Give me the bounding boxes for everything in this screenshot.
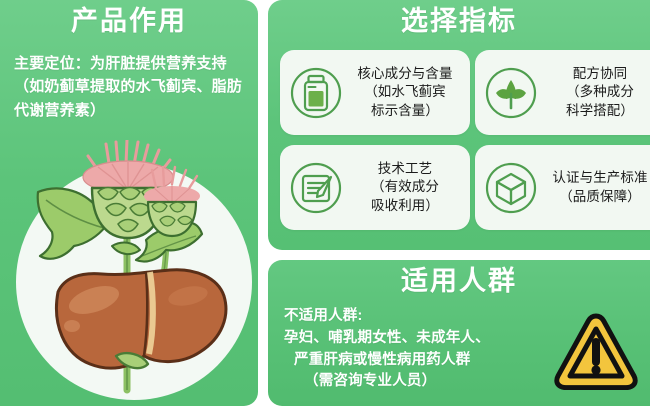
card-line: 配方协同 <box>539 65 650 84</box>
audience-line: 严重肝病或慢性病用药人群 <box>284 350 546 372</box>
card-line: 核心成分与含量 <box>344 65 466 84</box>
card-line: 认证与生产标准 <box>539 169 650 188</box>
card-line: 吸收利用） <box>344 197 466 216</box>
supplement-bottle-icon <box>288 65 344 121</box>
panel-title-target-audience: 适用人群 <box>268 268 650 295</box>
liver-milk-thistle-illustration <box>6 140 256 406</box>
criteria-card-formula-synergy[interactable]: 配方协同 （多种成分 科学搭配） <box>475 50 650 135</box>
audience-line: （需咨询专业人员） <box>284 371 546 393</box>
card-line: 科学搭配） <box>539 102 650 121</box>
panel-title-product-effect: 产品作用 <box>0 8 258 35</box>
panel-target-audience: 适用人群 不适用人群: 孕妇、哺乳期女性、未成年人、 严重肝病或慢性病用药人群 … <box>268 260 650 406</box>
clipboard-pencil-icon <box>288 160 344 216</box>
criteria-card-text-certification-standard: 认证与生产标准 （品质保障） <box>539 169 650 206</box>
card-line: 技术工艺 <box>344 160 466 179</box>
target-audience-body-text: 不适用人群: 孕妇、哺乳期女性、未成年人、 严重肝病或慢性病用药人群 （需咨询专… <box>284 306 546 393</box>
criteria-card-text-formula-synergy: 配方协同 （多种成分 科学搭配） <box>539 65 650 121</box>
panel-product-effect: 产品作用 主要定位：为肝脏提供营养支持（如奶蓟草提取的水飞蓟宾、脂肪代谢营养素） <box>0 0 258 406</box>
infographic-canvas: 产品作用 主要定位：为肝脏提供营养支持（如奶蓟草提取的水飞蓟宾、脂肪代谢营养素） <box>0 0 650 406</box>
card-line: （有效成分 <box>344 178 466 197</box>
card-line: （多种成分 <box>539 83 650 102</box>
card-line: （品质保障） <box>539 188 650 207</box>
card-line: （如水飞蓟宾 <box>344 83 466 102</box>
audience-line: 孕妇、哺乳期女性、未成年人、 <box>284 328 546 350</box>
criteria-card-text-technology-process: 技术工艺 （有效成分 吸收利用） <box>344 160 470 216</box>
leaf-plant-icon <box>483 65 539 121</box>
panel-selection-criteria: 选择指标 核心成分与含量 （如水飞蓟宾 标示含量） <box>268 0 650 250</box>
criteria-card-text-core-ingredient: 核心成分与含量 （如水飞蓟宾 标示含量） <box>344 65 470 121</box>
criteria-card-certification-standard[interactable]: 认证与生产标准 （品质保障） <box>475 145 650 230</box>
warning-triangle-icon <box>552 310 640 390</box>
product-effect-body-text: 主要定位：为肝脏提供营养支持（如奶蓟草提取的水飞蓟宾、脂肪代谢营养素） <box>14 52 250 122</box>
card-line: 标示含量） <box>344 102 466 121</box>
panel-title-selection-criteria: 选择指标 <box>268 8 650 35</box>
audience-line: 不适用人群: <box>284 306 546 328</box>
box-cube-icon <box>483 160 539 216</box>
criteria-card-technology-process[interactable]: 技术工艺 （有效成分 吸收利用） <box>280 145 470 230</box>
criteria-card-core-ingredient[interactable]: 核心成分与含量 （如水飞蓟宾 标示含量） <box>280 50 470 135</box>
